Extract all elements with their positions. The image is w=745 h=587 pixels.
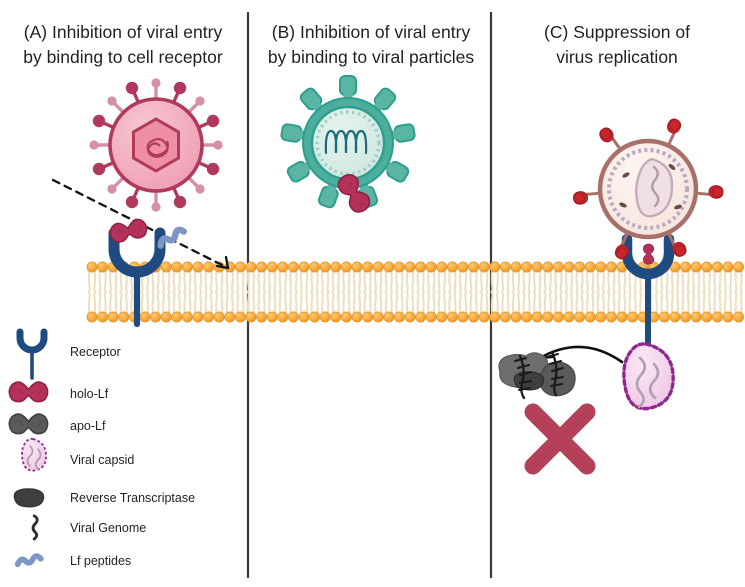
lipid-molecule bbox=[331, 292, 341, 322]
legend-label-apo-lf: apo-Lf bbox=[70, 419, 105, 433]
lipid-molecule bbox=[585, 262, 595, 292]
lipid-molecule bbox=[426, 292, 436, 322]
lipid-molecule bbox=[681, 262, 691, 292]
legend-receptor-icon bbox=[20, 332, 44, 378]
lipid-molecule bbox=[447, 262, 457, 292]
blocked-cross-marker bbox=[533, 412, 587, 466]
lipid-molecule bbox=[193, 262, 203, 292]
lipid-molecule bbox=[384, 262, 394, 292]
lipid-molecule bbox=[543, 292, 553, 322]
lipid-molecule bbox=[458, 292, 468, 322]
legend-viral-genome-icon bbox=[33, 516, 37, 539]
lipid-molecule bbox=[384, 292, 394, 322]
legend-label-reverse-transcriptase: Reverse Transcriptase bbox=[70, 491, 195, 505]
lipid-molecule bbox=[267, 292, 277, 322]
lipid-molecule bbox=[87, 292, 97, 322]
lipid-molecule bbox=[405, 292, 415, 322]
lipid-molecule bbox=[363, 292, 373, 322]
lipid-molecule bbox=[140, 292, 150, 322]
lipid-molecule bbox=[257, 262, 267, 292]
lipid-molecule bbox=[288, 262, 298, 292]
legend-viral-capsid-icon bbox=[22, 439, 46, 471]
lipid-molecule bbox=[564, 262, 574, 292]
virus-particle-c bbox=[573, 117, 723, 261]
lipid-molecule bbox=[235, 292, 245, 322]
lipid-molecule bbox=[310, 262, 320, 292]
legend-apo-lf-icon bbox=[9, 414, 47, 434]
lipid-molecule bbox=[522, 292, 532, 322]
lipid-molecule bbox=[532, 292, 542, 322]
lipid-molecule bbox=[299, 262, 309, 292]
lipid-molecule bbox=[575, 292, 585, 322]
lipid-molecule bbox=[416, 292, 426, 322]
lipid-molecule bbox=[341, 262, 351, 292]
legend-label-lf-peptides: Lf peptides bbox=[70, 554, 131, 568]
lipid-molecule bbox=[447, 292, 457, 322]
lipid-molecule bbox=[553, 292, 563, 322]
lipid-molecule bbox=[543, 262, 553, 292]
legend-label-viral-genome: Viral Genome bbox=[70, 521, 146, 535]
lipid-molecule bbox=[606, 262, 616, 292]
lipid-molecule bbox=[278, 292, 288, 322]
legend-lf-peptides-icon bbox=[18, 556, 41, 564]
lipid-molecule bbox=[235, 262, 245, 292]
lipid-molecule bbox=[341, 292, 351, 322]
lipid-molecule bbox=[670, 262, 680, 292]
lipid-molecule bbox=[479, 292, 489, 322]
lipid-molecule bbox=[352, 292, 362, 322]
virus-a-capsid-hexagon bbox=[134, 119, 179, 171]
lipid-molecule bbox=[225, 262, 235, 292]
lipid-molecule bbox=[373, 292, 383, 322]
lipid-molecule bbox=[712, 262, 722, 292]
lipid-molecule bbox=[161, 292, 171, 322]
lipid-molecule bbox=[288, 292, 298, 322]
virus-particle-a bbox=[89, 78, 222, 211]
lipid-molecule bbox=[500, 292, 510, 322]
lipid-molecule bbox=[596, 262, 606, 292]
lipid-molecule bbox=[500, 262, 510, 292]
lipid-molecule bbox=[511, 262, 521, 292]
lipid-molecule bbox=[373, 262, 383, 292]
lipid-molecule bbox=[691, 262, 701, 292]
lipid-molecule bbox=[575, 262, 585, 292]
lipid-molecule bbox=[469, 292, 479, 322]
lipid-molecule bbox=[98, 262, 108, 292]
lipid-molecule bbox=[564, 292, 574, 322]
lipid-molecule bbox=[522, 262, 532, 292]
lipid-molecule bbox=[108, 292, 118, 322]
lipid-molecule bbox=[267, 262, 277, 292]
holo-lf-bound-c bbox=[643, 244, 653, 264]
legend-reverse-transcriptase-icon bbox=[14, 489, 44, 507]
lipid-molecule bbox=[193, 292, 203, 322]
virus-b-inner bbox=[312, 107, 384, 179]
lipid-molecule bbox=[310, 292, 320, 322]
panel-b-graphics bbox=[281, 76, 416, 215]
lipid-molecule bbox=[511, 292, 521, 322]
lipid-molecule bbox=[426, 262, 436, 292]
lipid-molecule bbox=[585, 292, 595, 322]
lipid-molecule bbox=[278, 262, 288, 292]
legend-label-receptor: Receptor bbox=[70, 345, 121, 359]
lipid-molecule bbox=[617, 292, 627, 322]
lipid-molecule bbox=[204, 292, 214, 322]
lipid-molecule bbox=[299, 292, 309, 322]
legend-holo-lf-icon bbox=[9, 382, 47, 402]
lipid-molecule bbox=[670, 292, 680, 322]
lipid-molecule bbox=[712, 292, 722, 322]
lipid-molecule bbox=[320, 292, 330, 322]
lipid-molecule bbox=[702, 262, 712, 292]
lipid-molecule bbox=[691, 292, 701, 322]
legend-label-viral-capsid: Viral capsid bbox=[70, 453, 134, 467]
lipid-molecule bbox=[437, 262, 447, 292]
lipid-molecule bbox=[87, 262, 97, 292]
lipid-molecule bbox=[182, 262, 192, 292]
lipid-molecule bbox=[479, 262, 489, 292]
lipid-molecule bbox=[172, 292, 182, 322]
lipid-molecule bbox=[151, 292, 161, 322]
lipid-molecule bbox=[437, 292, 447, 322]
lipid-molecule bbox=[182, 292, 192, 322]
lipid-molecule bbox=[161, 262, 171, 292]
lipid-molecule bbox=[734, 292, 744, 322]
lipid-molecule bbox=[458, 262, 468, 292]
lipid-molecule bbox=[734, 262, 744, 292]
legend-label-holo-lf: holo-Lf bbox=[70, 387, 108, 401]
lipid-molecule bbox=[172, 262, 182, 292]
lipid-molecule bbox=[702, 292, 712, 322]
lipid-molecule bbox=[331, 262, 341, 292]
lipid-molecule bbox=[606, 292, 616, 322]
figure-canvas: (A) Inhibition of viral entry by binding… bbox=[0, 0, 745, 587]
lipid-molecule bbox=[532, 262, 542, 292]
lipid-molecule bbox=[214, 292, 224, 322]
lipid-molecule bbox=[553, 262, 563, 292]
panel-a-graphics bbox=[53, 78, 228, 324]
lipid-molecule bbox=[659, 292, 669, 322]
lipid-molecule bbox=[204, 262, 214, 292]
lipid-molecule bbox=[363, 262, 373, 292]
lipid-molecule bbox=[257, 292, 267, 322]
lipid-molecule bbox=[405, 262, 415, 292]
lipid-molecule bbox=[320, 262, 330, 292]
lipid-molecule bbox=[681, 292, 691, 322]
lipid-molecule bbox=[723, 262, 733, 292]
viral-capsid-released bbox=[624, 344, 673, 409]
lipid-molecule bbox=[394, 292, 404, 322]
lipid-molecule bbox=[98, 292, 108, 322]
lipid-molecule bbox=[119, 292, 129, 322]
lipid-molecule bbox=[416, 262, 426, 292]
lipid-molecule bbox=[469, 262, 479, 292]
legend-icons bbox=[9, 332, 47, 564]
lipid-molecule bbox=[628, 292, 638, 322]
rt-apolf-complex bbox=[499, 352, 575, 398]
lipid-molecule bbox=[225, 292, 235, 322]
lipid-molecule bbox=[394, 262, 404, 292]
lipid-molecule bbox=[723, 292, 733, 322]
holo-lf-bound-a bbox=[109, 218, 148, 244]
lipid-molecule bbox=[596, 292, 606, 322]
lipid-molecule bbox=[352, 262, 362, 292]
